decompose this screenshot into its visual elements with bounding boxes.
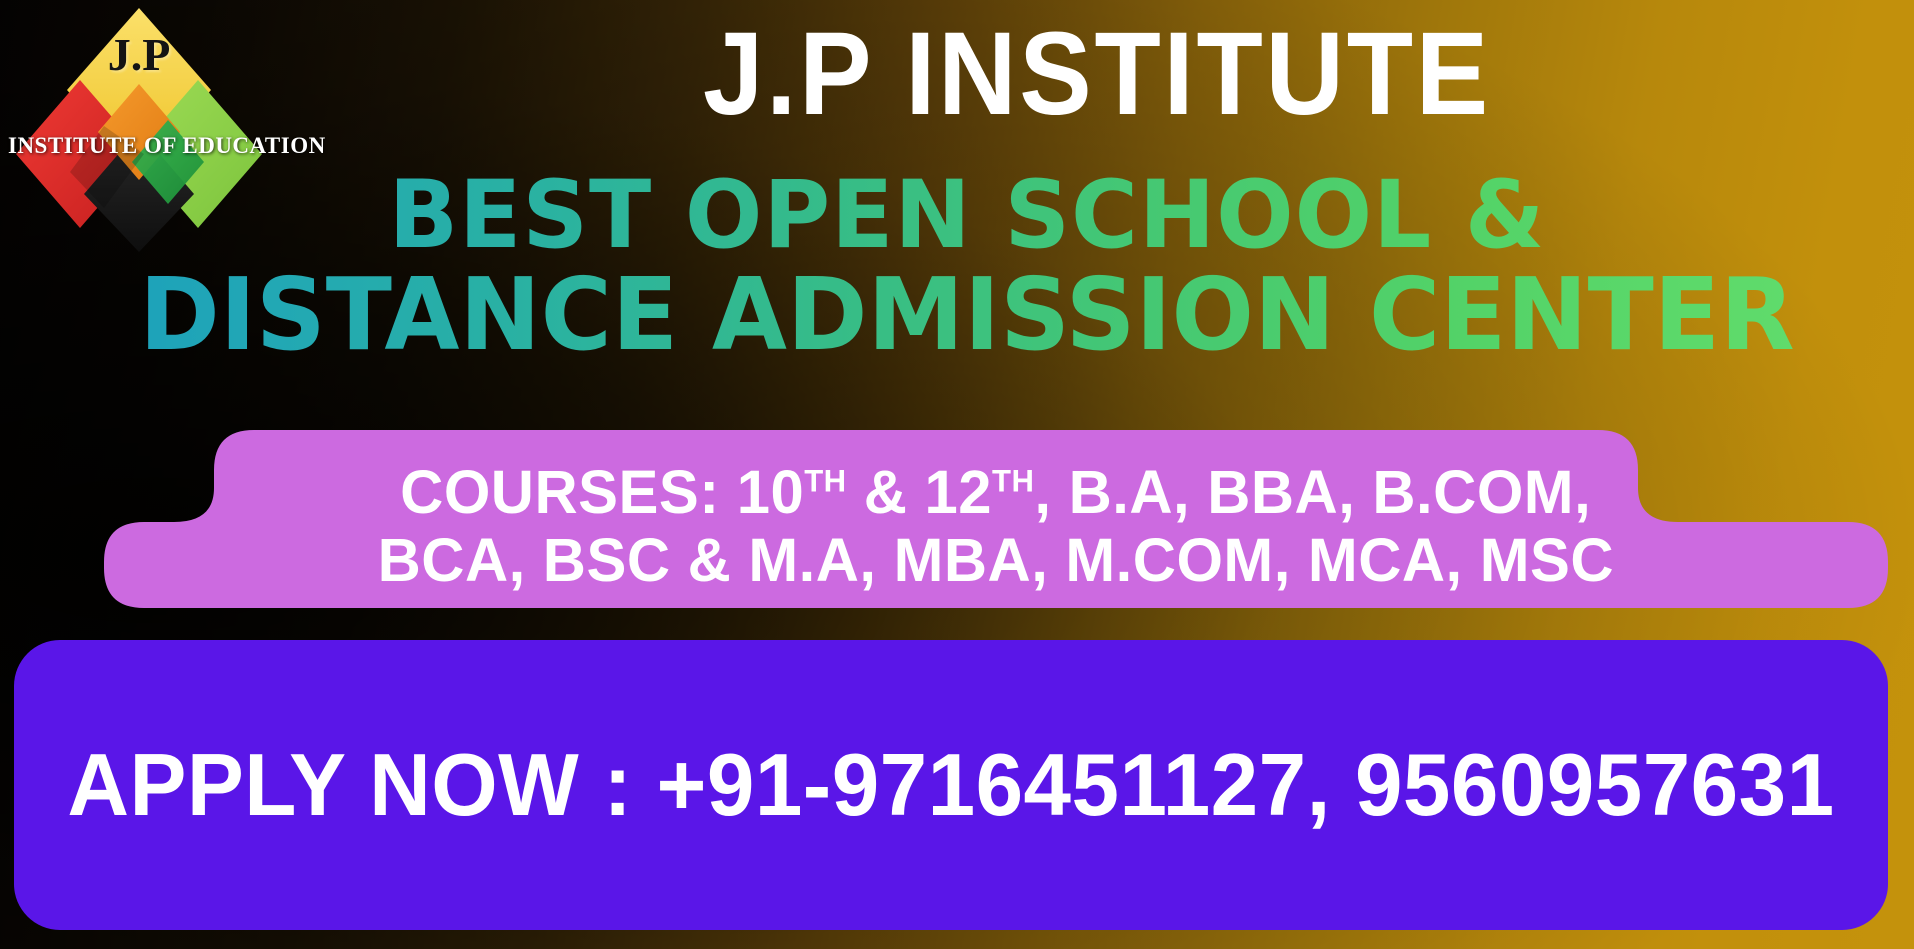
courses-panel: COURSES: 10TH & 12TH, B.A, BBA, B.COM, B… — [104, 430, 1888, 608]
apply-now-text: APPLY NOW : +91-9716451127, 9560957631 — [67, 734, 1834, 836]
courses-line-2: BCA, BSC & M.A, MBA, M.COM, MCA, MSC — [378, 526, 1614, 594]
logo-tagline: INSTITUTE OF EDUCATION — [8, 133, 270, 159]
courses-ordinal-10th: TH — [805, 462, 847, 498]
subtitle-line-2: DISTANCE ADMISSION CENTER — [58, 264, 1876, 366]
page-title: J.P INSTITUTE — [364, 12, 1830, 137]
courses-line-1: COURSES: 10TH & 12TH, B.A, BBA, B.COM, — [400, 458, 1591, 526]
courses-ordinal-12th: TH — [992, 462, 1034, 498]
courses-line1-suffix: , B.A, BBA, B.COM, — [1035, 458, 1592, 526]
courses-line1-prefix: COURSES: 10 — [400, 458, 804, 526]
subtitle-line-1: BEST OPEN SCHOOL & — [58, 168, 1876, 264]
subtitle: BEST OPEN SCHOOL & DISTANCE ADMISSION CE… — [30, 168, 1904, 366]
apply-now-bar[interactable]: APPLY NOW : +91-9716451127, 9560957631 — [14, 640, 1888, 930]
logo-initials: J.P — [8, 28, 270, 81]
promotional-banner: J.P INSTITUTE OF EDUCATION J.P INSTITUTE… — [0, 0, 1914, 949]
courses-line1-mid: & 12 — [847, 458, 992, 526]
courses-text: COURSES: 10TH & 12TH, B.A, BBA, B.COM, B… — [104, 430, 1888, 608]
